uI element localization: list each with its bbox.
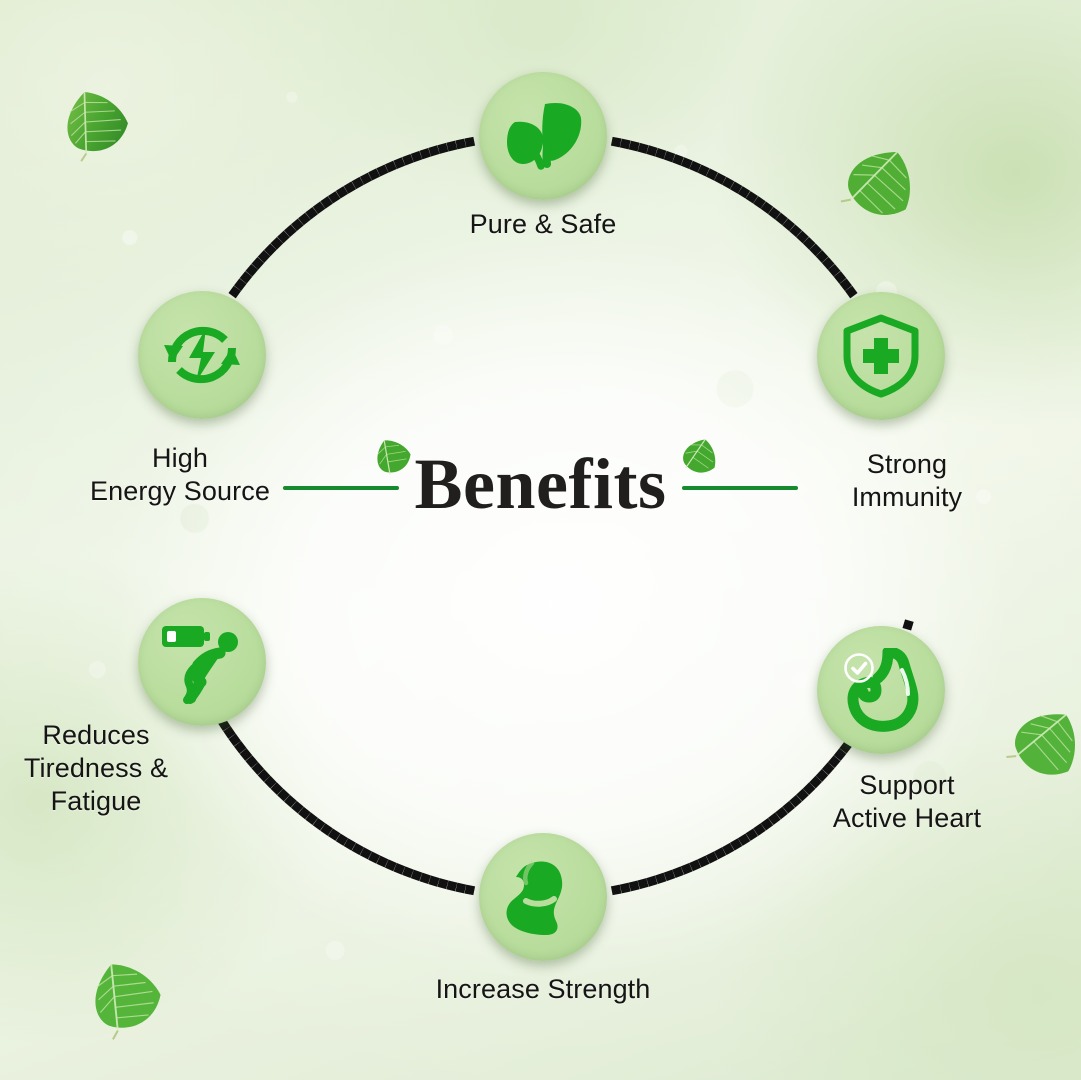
page-title: Benefits: [405, 448, 677, 520]
infographic-canvas: Pure & Safe Strong Immunity: [0, 0, 1081, 1080]
benefit-label-increase-strength: Increase Strength: [343, 973, 743, 1006]
flexed-bicep-icon: [502, 857, 584, 937]
stomach-check-icon: [838, 648, 924, 732]
icon-bubble-strong-immunity[interactable]: [817, 292, 945, 420]
energy-recycle-bolt-icon: [159, 312, 245, 398]
icon-bubble-high-energy-source[interactable]: [138, 291, 266, 419]
icon-bubble-reduces-tiredness-fatigue[interactable]: [138, 598, 266, 726]
benefit-label-support-active-heart: Support Active Heart: [752, 769, 1062, 835]
two-leaves-icon: [501, 98, 585, 174]
center-title-group: Benefits: [0, 452, 1081, 524]
benefit-label-reduces-tiredness-fatigue: Reduces Tiredness & Fatigue: [0, 719, 221, 818]
icon-bubble-increase-strength[interactable]: [479, 833, 607, 961]
title-rule-right: [682, 486, 798, 490]
icon-bubble-pure-safe[interactable]: [479, 72, 607, 200]
tired-person-low-battery-icon: [158, 620, 246, 704]
shield-cross-icon: [841, 314, 921, 398]
icon-bubble-support-active-heart[interactable]: [817, 626, 945, 754]
title-rule-left: [283, 486, 399, 490]
benefit-label-pure-safe: Pure & Safe: [373, 208, 713, 241]
